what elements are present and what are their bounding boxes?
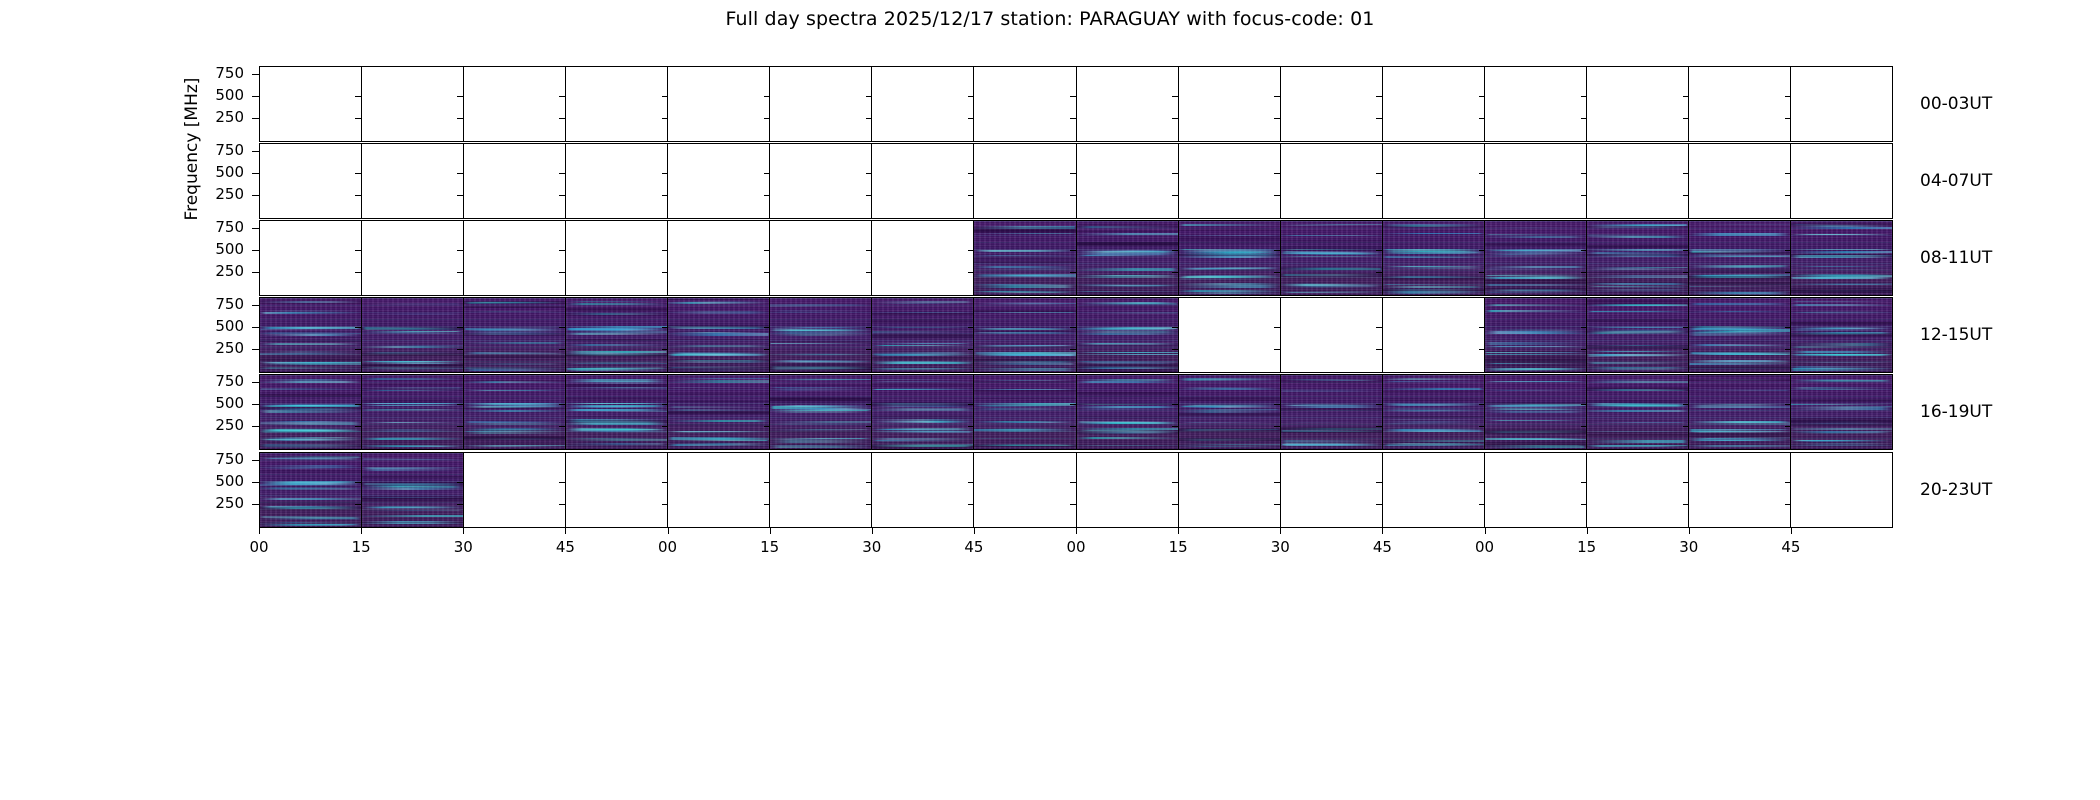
inner-tick-mark [1376,96,1382,97]
spectrogram-cell [1383,221,1485,295]
spectrogram-texture [770,298,871,372]
y-tick-mark [252,382,259,383]
x-tick-mark [974,528,975,534]
spectrogram-cell [1587,298,1689,372]
inner-tick-mark [457,327,463,328]
inner-tick-mark [559,173,565,174]
inner-tick-mark [355,96,361,97]
inner-tick-mark [1172,482,1178,483]
inner-tick-mark [1070,426,1076,427]
x-tick-mark [361,528,362,534]
inner-tick-mark [457,173,463,174]
spectrogram-row [259,220,1893,296]
y-tick-label: 500 [164,88,244,103]
spectrogram-cell [974,375,1076,449]
empty-cell [1689,67,1791,141]
spectrogram-texture [1485,221,1586,295]
inner-tick-mark [457,404,463,405]
y-tick-label: 750 [164,297,244,312]
y-tick-label: 250 [164,264,244,279]
figure-title: Full day spectra 2025/12/17 station: PAR… [0,8,2100,30]
row-label: 12-15UT [1920,325,1992,345]
x-tick-mark [1382,528,1383,534]
spectrogram-cell [1791,298,1892,372]
row-label: 20-23UT [1920,480,1992,500]
spectrogram-texture [668,298,769,372]
inner-tick-mark [1785,118,1791,119]
spectrogram-cell [1281,221,1383,295]
inner-tick-mark [1376,482,1382,483]
inner-tick-mark [1070,404,1076,405]
spectrogram-cell [362,375,464,449]
spectrogram-texture [770,375,871,449]
spectrogram-texture [464,375,565,449]
spectrogram-texture [1077,221,1178,295]
inner-tick-mark [662,250,668,251]
inner-tick-mark [457,504,463,505]
x-tick-label: 00 [648,538,688,556]
inner-tick-mark [1172,96,1178,97]
spectrogram-cell [1179,375,1281,449]
empty-cell [566,67,668,141]
y-tick-mark [252,460,259,461]
row-cells [260,221,1892,295]
inner-tick-mark [1581,327,1587,328]
inner-tick-mark [866,504,872,505]
spectrogram-cell [770,375,872,449]
inner-tick-mark [1070,272,1076,273]
inner-tick-mark [1274,173,1280,174]
inner-tick-mark [1172,195,1178,196]
spectrogram-cell [566,375,668,449]
spectrogram-cell [464,375,566,449]
empty-cell [464,221,566,295]
spectrogram-cell [1077,298,1179,372]
inner-tick-mark [866,404,872,405]
spectrogram-texture [872,298,973,372]
empty-cell [362,144,464,218]
spectrogram-cell [668,375,770,449]
empty-cell [1077,144,1179,218]
row-cells [260,453,1892,527]
spectrogram-cell [464,298,566,372]
inner-tick-mark [1376,504,1382,505]
spectrogram-texture [1077,375,1178,449]
inner-tick-mark [1785,272,1791,273]
inner-tick-mark [1581,272,1587,273]
y-tick-mark [252,404,259,405]
empty-cell [1179,144,1281,218]
y-tick-label: 500 [164,242,244,257]
y-tick-mark [252,272,259,273]
inner-tick-mark [764,327,770,328]
inner-tick-mark [1274,404,1280,405]
empty-cell [1587,67,1689,141]
empty-cell [872,144,974,218]
y-tick-label: 500 [164,319,244,334]
spectrogram-texture [260,298,361,372]
inner-tick-mark [1581,195,1587,196]
empty-cell [1077,453,1179,527]
inner-tick-mark [1581,96,1587,97]
inner-tick-mark [1274,426,1280,427]
empty-cell [1383,144,1485,218]
spectrogram-cell [1077,221,1179,295]
spectrogram-cell [362,453,464,527]
inner-tick-mark [1785,504,1791,505]
y-tick-label: 750 [164,66,244,81]
inner-tick-mark [968,482,974,483]
spectrogram-row [259,143,1893,219]
spectrogram-cell [872,298,974,372]
spectrogram-cell [260,453,362,527]
inner-tick-mark [866,349,872,350]
x-tick-label: 15 [1567,538,1607,556]
inner-tick-mark [1376,349,1382,350]
inner-tick-mark [1683,349,1689,350]
inner-tick-mark [457,482,463,483]
inner-tick-mark [1274,96,1280,97]
inner-tick-mark [764,404,770,405]
x-tick-mark [1178,528,1179,534]
y-tick-label: 500 [164,165,244,180]
empty-cell [1179,67,1281,141]
inner-tick-mark [1376,327,1382,328]
y-tick-mark [252,173,259,174]
x-tick-label: 45 [1771,538,1811,556]
inner-tick-mark [662,327,668,328]
inner-tick-mark [1479,504,1485,505]
spectrogram-texture [1689,298,1790,372]
empty-cell [1383,453,1485,527]
empty-cell [1791,453,1892,527]
spectrogram-cell [1689,375,1791,449]
inner-tick-mark [1479,482,1485,483]
spectrogram-cell [1485,375,1587,449]
spectrogram-row [259,66,1893,142]
spectrogram-texture [1689,221,1790,295]
empty-cell [974,144,1076,218]
empty-cell [1383,67,1485,141]
spectrogram-texture [362,453,463,527]
empty-cell [770,453,872,527]
spectrogram-texture [1689,375,1790,449]
spectrogram-figure: Full day spectra 2025/12/17 station: PAR… [0,0,2100,800]
inner-tick-mark [866,482,872,483]
inner-tick-mark [1070,504,1076,505]
spectrogram-texture [1485,375,1586,449]
empty-cell [1281,67,1383,141]
spectrogram-row [259,374,1893,450]
inner-tick-mark [1479,349,1485,350]
inner-tick-mark [866,96,872,97]
inner-tick-mark [1683,272,1689,273]
spectrogram-texture [1587,298,1688,372]
y-tick-mark [252,327,259,328]
empty-cell [1791,67,1892,141]
spectrogram-texture [1485,298,1586,372]
inner-tick-mark [355,173,361,174]
row-label: 00-03UT [1920,94,1992,114]
y-tick-mark [252,426,259,427]
inner-tick-mark [1376,118,1382,119]
empty-cell [1077,67,1179,141]
inner-tick-mark [1785,482,1791,483]
x-tick-label: 45 [1362,538,1402,556]
inner-tick-mark [1172,327,1178,328]
inner-tick-mark [968,327,974,328]
empty-cell [974,67,1076,141]
inner-tick-mark [662,404,668,405]
inner-tick-mark [1683,118,1689,119]
inner-tick-mark [559,272,565,273]
inner-tick-mark [764,173,770,174]
inner-tick-mark [1581,173,1587,174]
spectrogram-cell [1587,221,1689,295]
empty-cell [566,144,668,218]
y-tick-mark [252,195,259,196]
inner-tick-mark [559,349,565,350]
empty-cell [1485,144,1587,218]
inner-tick-mark [1581,504,1587,505]
spectrogram-texture [1587,221,1688,295]
spectrogram-texture [566,375,667,449]
y-tick-label: 250 [164,496,244,511]
spectrogram-texture [668,375,769,449]
x-tick-mark [1689,528,1690,534]
spectrogram-cell [362,298,464,372]
spectrogram-row [259,297,1893,373]
y-tick-mark [252,349,259,350]
inner-tick-mark [1785,250,1791,251]
spectrogram-texture [362,375,463,449]
inner-tick-mark [1274,349,1280,350]
spectrogram-cell [566,298,668,372]
inner-tick-mark [1479,426,1485,427]
inner-tick-mark [764,272,770,273]
inner-tick-mark [559,404,565,405]
y-tick-mark [252,118,259,119]
inner-tick-mark [662,426,668,427]
inner-tick-mark [1479,195,1485,196]
inner-tick-mark [1172,250,1178,251]
inner-tick-mark [1683,426,1689,427]
inner-tick-mark [1274,250,1280,251]
inner-tick-mark [1376,404,1382,405]
spectrogram-texture [1281,375,1382,449]
inner-tick-mark [764,250,770,251]
empty-cell [770,144,872,218]
inner-tick-mark [457,195,463,196]
row-label: 04-07UT [1920,171,1992,191]
inner-tick-mark [1479,327,1485,328]
inner-tick-mark [1274,327,1280,328]
x-tick-label: 00 [1465,538,1505,556]
inner-tick-mark [1479,173,1485,174]
spectrogram-texture [1383,375,1484,449]
inner-tick-mark [1785,349,1791,350]
inner-tick-mark [662,272,668,273]
inner-tick-mark [662,173,668,174]
empty-cell [464,144,566,218]
inner-tick-mark [764,96,770,97]
inner-tick-mark [1376,250,1382,251]
x-tick-label: 15 [1158,538,1198,556]
inner-tick-mark [968,349,974,350]
y-tick-label: 250 [164,418,244,433]
empty-cell [1587,144,1689,218]
inner-tick-mark [866,426,872,427]
x-tick-label: 30 [852,538,892,556]
y-tick-label: 750 [164,374,244,389]
inner-tick-mark [355,118,361,119]
spectrogram-texture [1179,221,1280,295]
y-tick-label: 250 [164,187,244,202]
inner-tick-mark [355,327,361,328]
inner-tick-mark [1172,504,1178,505]
spectrogram-cell [1791,221,1892,295]
y-tick-mark [252,305,259,306]
empty-cell [1383,298,1485,372]
spectrogram-texture [872,375,973,449]
spectrogram-texture [1383,221,1484,295]
y-tick-label: 750 [164,143,244,158]
empty-cell [1485,453,1587,527]
spectrogram-texture [1281,221,1382,295]
y-tick-mark [252,250,259,251]
inner-tick-mark [1683,250,1689,251]
inner-tick-mark [1581,404,1587,405]
inner-tick-mark [968,404,974,405]
inner-tick-mark [764,504,770,505]
empty-cell [566,221,668,295]
inner-tick-mark [1581,482,1587,483]
inner-tick-mark [1070,195,1076,196]
inner-tick-mark [968,195,974,196]
inner-tick-mark [457,118,463,119]
inner-tick-mark [866,272,872,273]
inner-tick-mark [1479,96,1485,97]
inner-tick-mark [1683,482,1689,483]
spectrogram-cell [974,298,1076,372]
inner-tick-mark [764,482,770,483]
spectrogram-cell [1077,375,1179,449]
empty-cell [1281,144,1383,218]
empty-cell [668,221,770,295]
inner-tick-mark [1683,195,1689,196]
inner-tick-mark [559,327,565,328]
inner-tick-mark [559,195,565,196]
empty-cell [362,67,464,141]
inner-tick-mark [1070,250,1076,251]
inner-tick-mark [1581,349,1587,350]
spectrogram-cell [1689,298,1791,372]
inner-tick-mark [1785,404,1791,405]
inner-tick-mark [1479,272,1485,273]
spectrogram-row [259,452,1893,528]
y-tick-mark [252,228,259,229]
inner-tick-mark [1274,482,1280,483]
inner-tick-mark [1376,426,1382,427]
inner-tick-mark [1172,404,1178,405]
inner-tick-mark [968,272,974,273]
inner-tick-mark [355,482,361,483]
inner-tick-mark [662,118,668,119]
empty-cell [974,453,1076,527]
inner-tick-mark [866,250,872,251]
row-cells [260,144,1892,218]
inner-tick-mark [662,504,668,505]
inner-tick-mark [1683,504,1689,505]
inner-tick-mark [968,504,974,505]
inner-tick-mark [1274,272,1280,273]
empty-cell [770,67,872,141]
spectrogram-cell [974,221,1076,295]
inner-tick-mark [1785,327,1791,328]
inner-tick-mark [559,118,565,119]
inner-tick-mark [457,349,463,350]
empty-cell [770,221,872,295]
y-tick-label: 750 [164,452,244,467]
inner-tick-mark [968,96,974,97]
inner-tick-mark [662,96,668,97]
row-cells [260,298,1892,372]
spectrogram-texture [1791,375,1892,449]
inner-tick-mark [1581,426,1587,427]
y-tick-label: 250 [164,110,244,125]
x-tick-label: 30 [1260,538,1300,556]
y-tick-mark [252,151,259,152]
inner-tick-mark [1274,118,1280,119]
empty-cell [1485,67,1587,141]
empty-cell [668,453,770,527]
empty-cell [1689,144,1791,218]
empty-cell [872,221,974,295]
x-tick-mark [463,528,464,534]
x-tick-mark [259,528,260,534]
spectrogram-texture [362,298,463,372]
inner-tick-mark [1785,96,1791,97]
x-tick-mark [1280,528,1281,534]
spectrogram-cell [872,375,974,449]
empty-cell [668,67,770,141]
spectrogram-cell [1587,375,1689,449]
x-tick-mark [1076,528,1077,534]
row-cells [260,375,1892,449]
inner-tick-mark [457,96,463,97]
empty-cell [566,453,668,527]
spectrogram-cell [1485,298,1587,372]
empty-cell [260,221,362,295]
spectrogram-cell [668,298,770,372]
spectrogram-texture [566,298,667,372]
inner-tick-mark [764,195,770,196]
inner-tick-mark [1785,195,1791,196]
inner-tick-mark [1070,118,1076,119]
inner-tick-mark [1274,195,1280,196]
inner-tick-mark [1376,195,1382,196]
inner-tick-mark [968,118,974,119]
x-tick-label: 45 [545,538,585,556]
x-tick-label: 00 [239,538,279,556]
inner-tick-mark [1070,173,1076,174]
empty-cell [1689,453,1791,527]
y-tick-mark [252,96,259,97]
spectrogram-cell [1689,221,1791,295]
spectrogram-texture [1791,221,1892,295]
row-label: 08-11UT [1920,248,1992,268]
spectrogram-cell [1383,375,1485,449]
